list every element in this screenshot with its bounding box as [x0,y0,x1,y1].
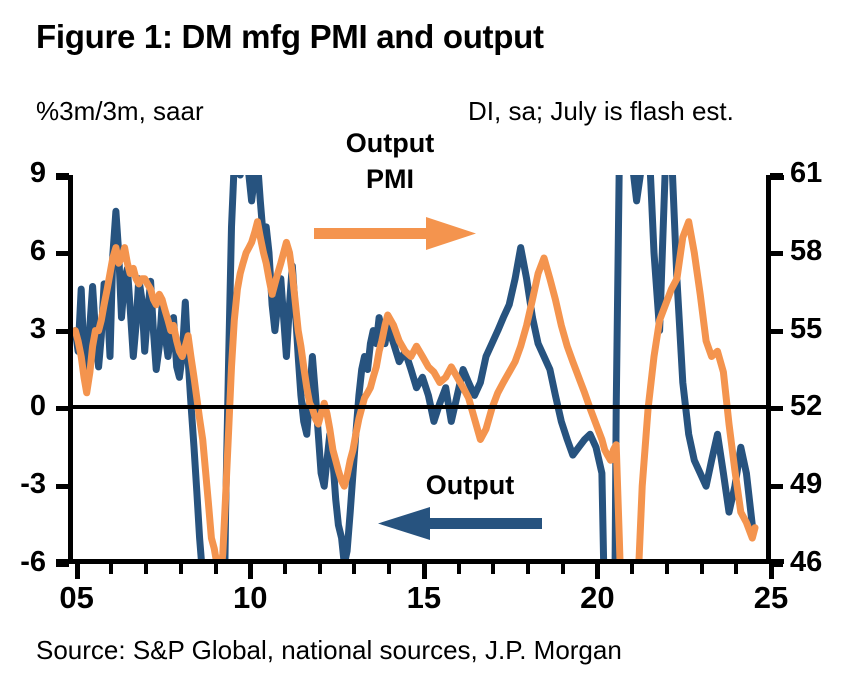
xtick-minor-2007 [144,564,148,574]
annotation-output-pmi-line2: PMI [300,164,480,195]
xtick-minor-2009 [214,564,218,574]
ytick-label-right-61: 61 [790,159,822,188]
xtick-major-2025 [769,564,774,579]
xtick-major-2015 [422,564,427,579]
left-axis-spine [68,175,73,564]
source-note: Source: S&P Global, national sources, J.… [36,635,622,666]
xtick-minor-2023 [700,564,704,574]
xtick-minor-2008 [179,564,183,574]
xtick-minor-2011 [283,564,287,574]
ytick-label-left-0: 0 [30,392,46,421]
xtick-minor-2016 [457,564,461,574]
xtick-label-2020: 20 [562,580,632,616]
xtick-minor-2006 [109,564,113,574]
xtick-label-2015: 15 [389,580,459,616]
ytick-left--6 [56,562,69,567]
xtick-minor-2022 [665,564,669,574]
ytick-right-58 [770,251,783,256]
ytick-right-61 [770,173,783,178]
ytick-right-49 [770,484,783,489]
ytick-label-left--3: -3 [20,470,46,499]
xtick-minor-2024 [734,564,738,574]
ytick-label-left--6: -6 [20,548,46,577]
xtick-label-2005: 05 [42,580,112,616]
xtick-minor-2019 [561,564,565,574]
xtick-major-2020 [595,564,600,579]
ytick-left--3 [56,484,69,489]
xtick-minor-2017 [491,564,495,574]
right-axis-unit-label: DI, sa; July is flash est. [468,96,734,127]
page-title: Figure 1: DM mfg PMI and output [36,18,544,56]
ytick-label-left-9: 9 [30,159,46,188]
ytick-label-left-6: 6 [30,237,46,266]
ytick-left-6 [56,251,69,256]
ytick-right-55 [770,329,783,334]
xtick-minor-2014 [387,564,391,574]
ytick-left-9 [56,173,69,178]
ytick-left-0 [56,406,69,411]
left-axis-unit-label: %3m/3m, saar [36,96,204,127]
ytick-label-right-55: 55 [790,315,822,344]
ytick-label-right-58: 58 [790,237,822,266]
annotation-output-pmi-line1: Output [300,128,480,159]
annotation-output: Output [380,470,560,501]
xtick-major-2005 [75,564,80,579]
ytick-right-52 [770,406,783,411]
ytick-label-right-52: 52 [790,392,822,421]
ytick-label-right-49: 49 [790,470,822,499]
ytick-label-right-46: 46 [790,548,822,577]
arrow-left-icon [368,502,544,544]
xtick-label-2025: 25 [736,580,806,616]
xtick-minor-2021 [630,564,634,574]
xtick-label-2010: 10 [215,580,285,616]
zero-reference-line [68,405,771,409]
figure-root: Figure 1: DM mfg PMI and output %3m/3m, … [0,0,852,689]
ytick-left-3 [56,329,69,334]
xtick-minor-2018 [526,564,530,574]
right-axis-spine [766,175,771,564]
ytick-label-left-3: 3 [30,315,46,344]
xtick-major-2010 [248,564,253,579]
arrow-right-icon [312,212,482,254]
xtick-minor-2013 [352,564,356,574]
xtick-minor-2012 [318,564,322,574]
